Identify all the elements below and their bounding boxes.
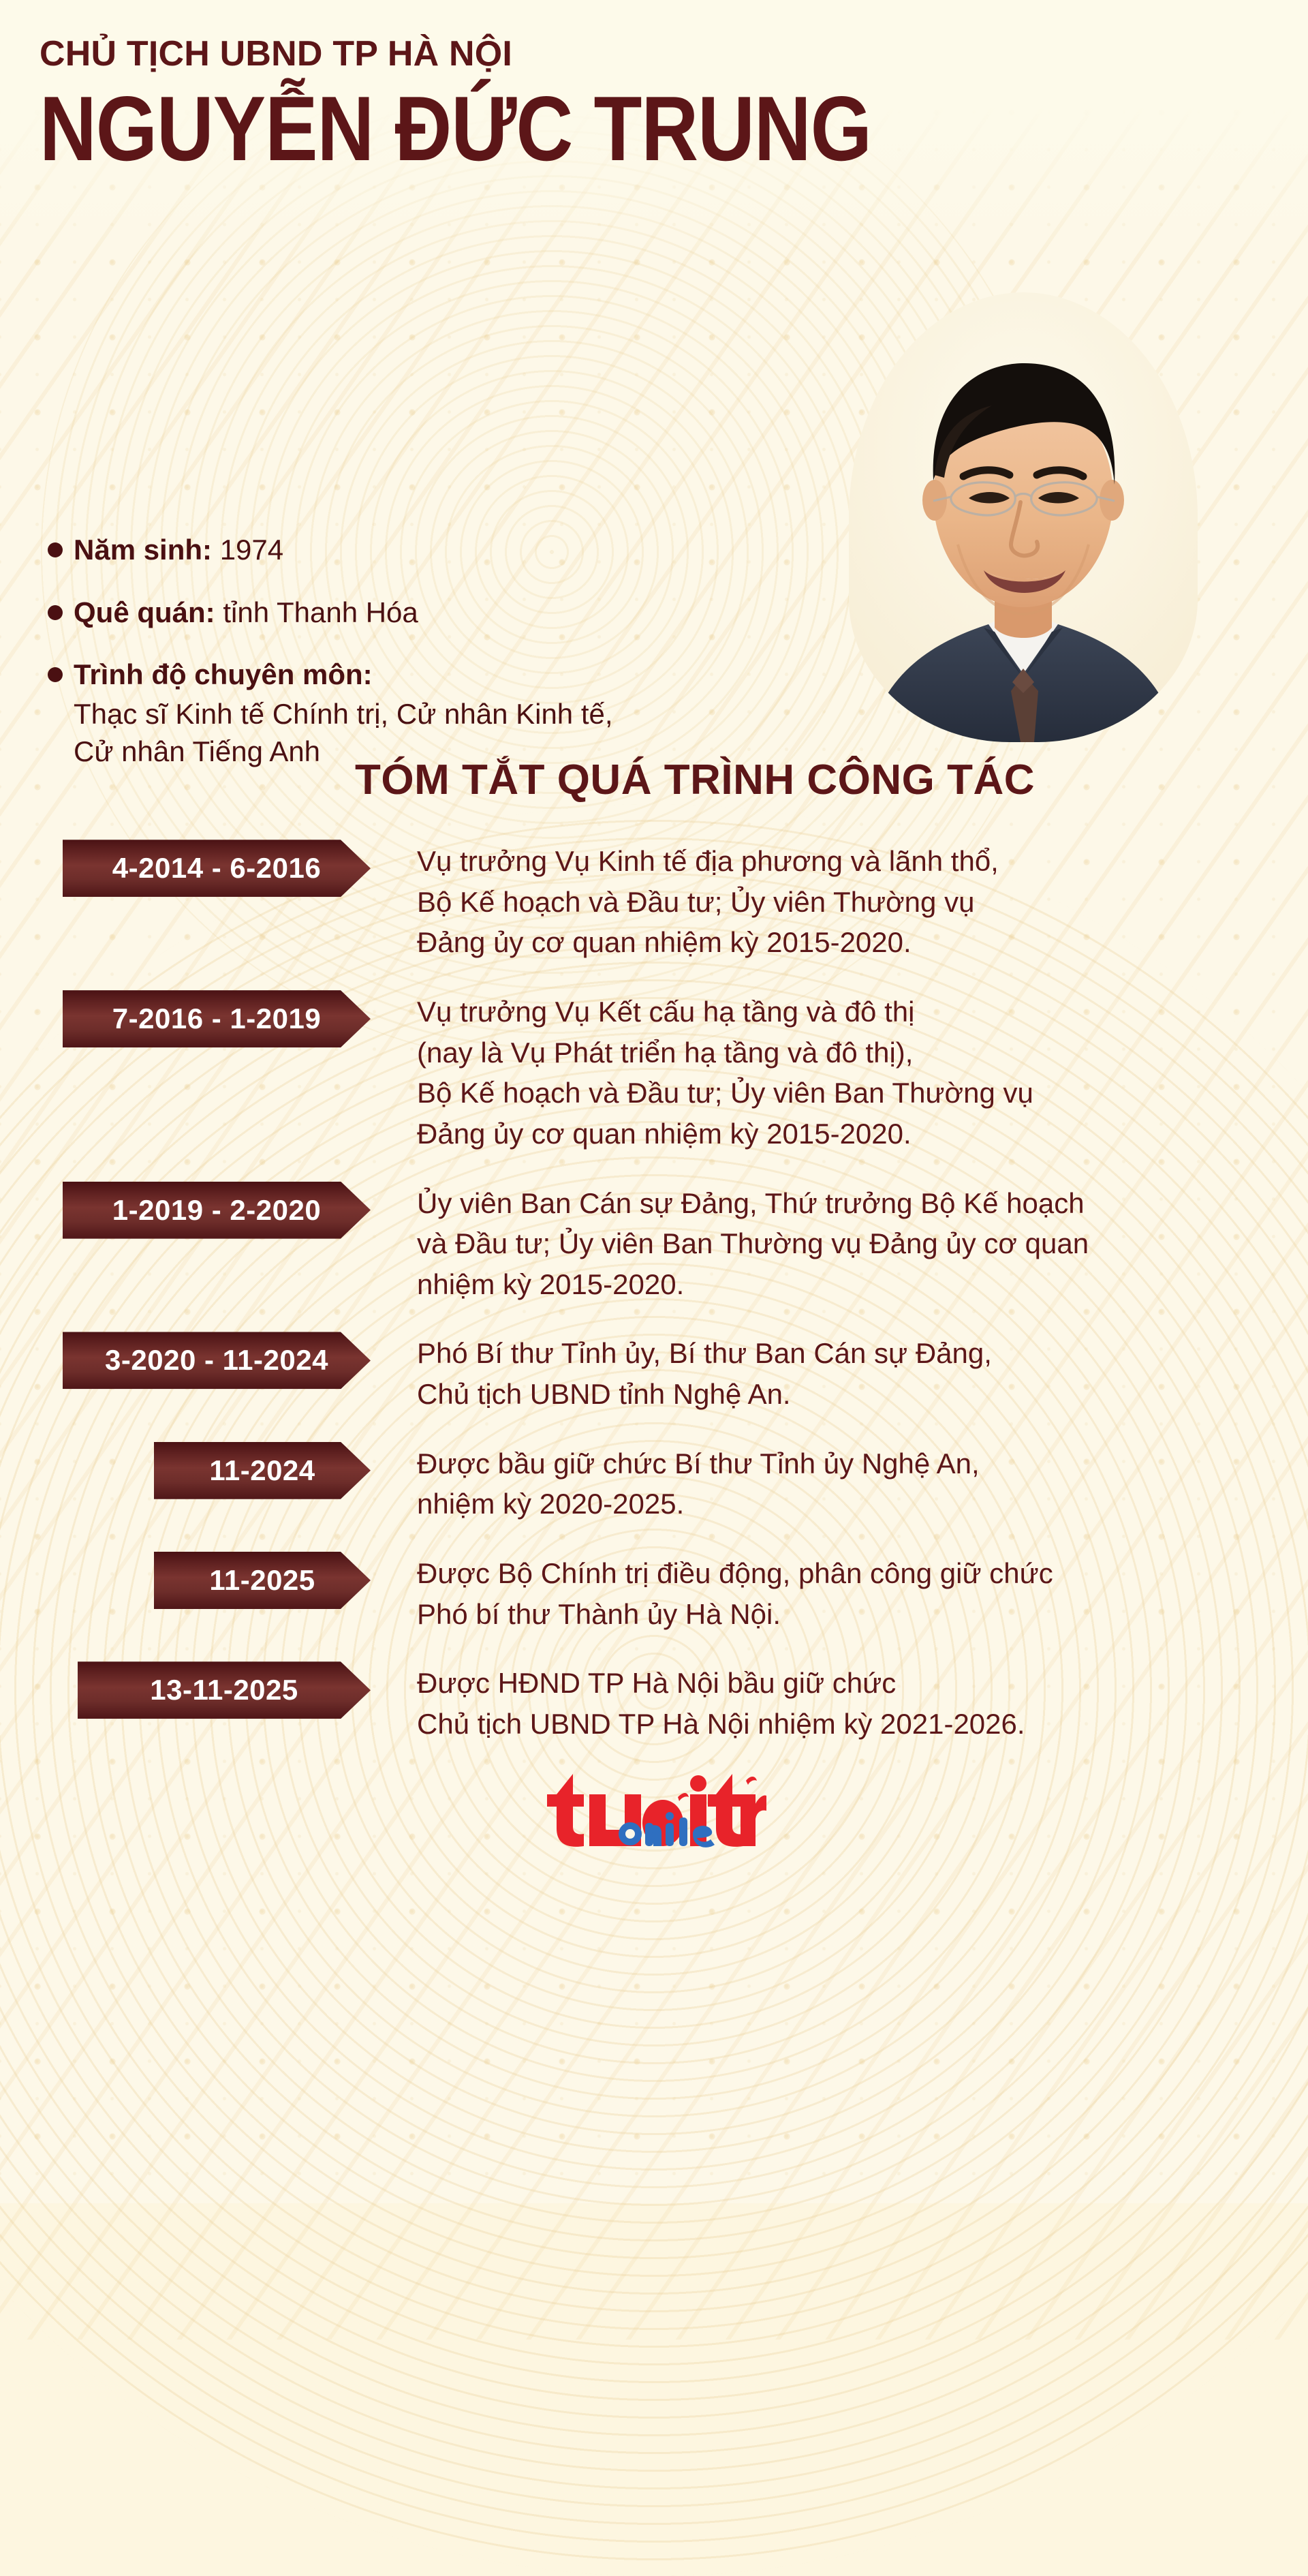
bio-list: Năm sinh: 1974 Quê quán: tỉnh Thanh Hóa … xyxy=(48,531,770,770)
timeline-line: Phó Bí thư Tỉnh ủy, Bí thư Ban Cán sự Đả… xyxy=(417,1333,1281,1374)
timeline-row: 3-2020 - 11-2024 Phó Bí thư Tỉnh ủy, Bí … xyxy=(0,1332,1281,1414)
portrait-frame xyxy=(849,292,1198,742)
bio-item-text: Quê quán: tỉnh Thanh Hóa xyxy=(74,594,418,631)
timeline-period-badge: 1-2019 - 2-2020 xyxy=(63,1182,371,1239)
tuoitre-online-logo xyxy=(542,1771,766,1853)
page-kicker: CHỦ TỊCH UBND TP HÀ NỘI xyxy=(40,35,1308,73)
bio-item-hometown: Quê quán: tỉnh Thanh Hóa xyxy=(48,594,770,631)
timeline-line: Được Bộ Chính trị điều động, phân công g… xyxy=(417,1553,1281,1594)
timeline-description: Vụ trưởng Vụ Kinh tế địa phương và lãnh … xyxy=(409,840,1281,963)
timeline-period-badge: 11-2024 xyxy=(154,1442,371,1499)
timeline-line: nhiệm kỳ 2020-2025. xyxy=(417,1484,1281,1524)
timeline-row: 1-2019 - 2-2020 Ủy viên Ban Cán sự Đảng,… xyxy=(0,1182,1281,1305)
timeline-row: 7-2016 - 1-2019 Vụ trưởng Vụ Kết cấu hạ … xyxy=(0,990,1281,1154)
timeline-line: Chủ tịch UBND TP Hà Nội nhiệm kỳ 2021-20… xyxy=(417,1704,1281,1745)
logo-graphic xyxy=(542,1771,766,1853)
timeline-period-badge: 13-11-2025 xyxy=(78,1661,371,1719)
timeline-line: Được bầu giữ chức Bí thư Tỉnh ủy Nghệ An… xyxy=(417,1443,1281,1484)
timeline-period-badge: 4-2014 - 6-2016 xyxy=(63,840,371,897)
timeline-row: 4-2014 - 6-2016 Vụ trưởng Vụ Kinh tế địa… xyxy=(0,840,1281,963)
timeline-line: Phó bí thư Thành ủy Hà Nội. xyxy=(417,1594,1281,1635)
timeline-description: Ủy viên Ban Cán sự Đảng, Thứ trưởng Bộ K… xyxy=(409,1182,1281,1305)
timeline-line: và Đầu tư; Ủy viên Ban Thường vụ Đảng ủy… xyxy=(417,1223,1281,1264)
timeline-description: Được HĐND TP Hà Nội bầu giữ chức Chủ tịc… xyxy=(409,1661,1281,1744)
bullet-icon xyxy=(48,667,63,682)
bio-item-birth-year: Năm sinh: 1974 xyxy=(48,531,770,568)
bio-value: 1974 xyxy=(212,534,283,566)
footer xyxy=(0,1771,1308,1884)
timeline-line: Bộ Kế hoạch và Đầu tư; Ủy viên Ban Thườn… xyxy=(417,1073,1281,1114)
bullet-icon xyxy=(48,605,63,620)
timeline-line: Được HĐND TP Hà Nội bầu giữ chức xyxy=(417,1663,1281,1704)
bio-label: Quê quán: xyxy=(74,596,215,628)
career-timeline: 4-2014 - 6-2016 Vụ trưởng Vụ Kinh tế địa… xyxy=(0,840,1308,1744)
bio-label: Trình độ chuyên môn: xyxy=(74,658,373,690)
timeline-line: Vụ trưởng Vụ Kinh tế địa phương và lãnh … xyxy=(417,841,1281,882)
timeline-line: Chủ tịch UBND tỉnh Nghệ An. xyxy=(417,1374,1281,1415)
timeline-line: nhiệm kỳ 2015-2020. xyxy=(417,1264,1281,1305)
portrait-illustration xyxy=(849,292,1198,742)
page-title: NGUYỄN ĐỨC TRUNG xyxy=(40,81,1308,177)
timeline-period-cell: 4-2014 - 6-2016 xyxy=(0,840,409,897)
timeline-line: (nay là Vụ Phát triển hạ tầng và đô thị)… xyxy=(417,1032,1281,1073)
bio-value: tỉnh Thanh Hóa xyxy=(215,596,418,628)
timeline-line: Bộ Kế hoạch và Đầu tư; Ủy viên Thường vụ xyxy=(417,882,1281,923)
timeline-period-cell: 11-2025 xyxy=(0,1552,409,1609)
timeline-row: 13-11-2025 Được HĐND TP Hà Nội bầu giữ c… xyxy=(0,1661,1281,1744)
timeline-line: Đảng ủy cơ quan nhiệm kỳ 2015-2020. xyxy=(417,1114,1281,1154)
timeline-period-badge: 7-2016 - 1-2019 xyxy=(63,990,371,1047)
header: CHỦ TỊCH UBND TP HÀ NỘI NGUYỄN ĐỨC TRUNG xyxy=(0,0,1308,163)
timeline-description: Vụ trưởng Vụ Kết cấu hạ tầng và đô thị (… xyxy=(409,990,1281,1154)
timeline-period-cell: 3-2020 - 11-2024 xyxy=(0,1332,409,1389)
timeline-row: 11-2025 Được Bộ Chính trị điều động, phâ… xyxy=(0,1552,1281,1634)
timeline-period-badge: 11-2025 xyxy=(154,1552,371,1609)
timeline-period-cell: 11-2024 xyxy=(0,1442,409,1499)
bio-item-text: Năm sinh: 1974 xyxy=(74,531,283,568)
bio-label: Năm sinh: xyxy=(74,534,212,566)
portrait xyxy=(849,292,1198,742)
timeline-period-cell: 7-2016 - 1-2019 xyxy=(0,990,409,1047)
infographic-page: CHỦ TỊCH UBND TP HÀ NỘI NGUYỄN ĐỨC TRUNG xyxy=(0,0,1308,1884)
timeline-period-cell: 1-2019 - 2-2020 xyxy=(0,1182,409,1239)
timeline-period-cell: 13-11-2025 xyxy=(0,1661,409,1719)
bio-item-education: Trình độ chuyên môn: Thạc sĩ Kinh tế Chí… xyxy=(48,656,770,770)
timeline-line: Ủy viên Ban Cán sự Đảng, Thứ trưởng Bộ K… xyxy=(417,1183,1281,1224)
timeline-description: Được Bộ Chính trị điều động, phân công g… xyxy=(409,1552,1281,1634)
timeline-description: Được bầu giữ chức Bí thư Tỉnh ủy Nghệ An… xyxy=(409,1442,1281,1524)
timeline-line: Vụ trưởng Vụ Kết cấu hạ tầng và đô thị xyxy=(417,992,1281,1032)
bio-item-text: Trình độ chuyên môn: Thạc sĩ Kinh tế Chí… xyxy=(74,656,613,770)
bullet-icon xyxy=(48,542,63,557)
bio-education-detail: Thạc sĩ Kinh tế Chính trị, Cử nhân Kinh … xyxy=(74,695,613,771)
bio-section: Năm sinh: 1974 Quê quán: tỉnh Thanh Hóa … xyxy=(0,292,1308,729)
timeline-period-badge: 3-2020 - 11-2024 xyxy=(63,1332,371,1389)
timeline-line: Đảng ủy cơ quan nhiệm kỳ 2015-2020. xyxy=(417,922,1281,963)
timeline-row: 11-2024 Được bầu giữ chức Bí thư Tỉnh ủy… xyxy=(0,1442,1281,1524)
timeline-description: Phó Bí thư Tỉnh ủy, Bí thư Ban Cán sự Đả… xyxy=(409,1332,1281,1414)
